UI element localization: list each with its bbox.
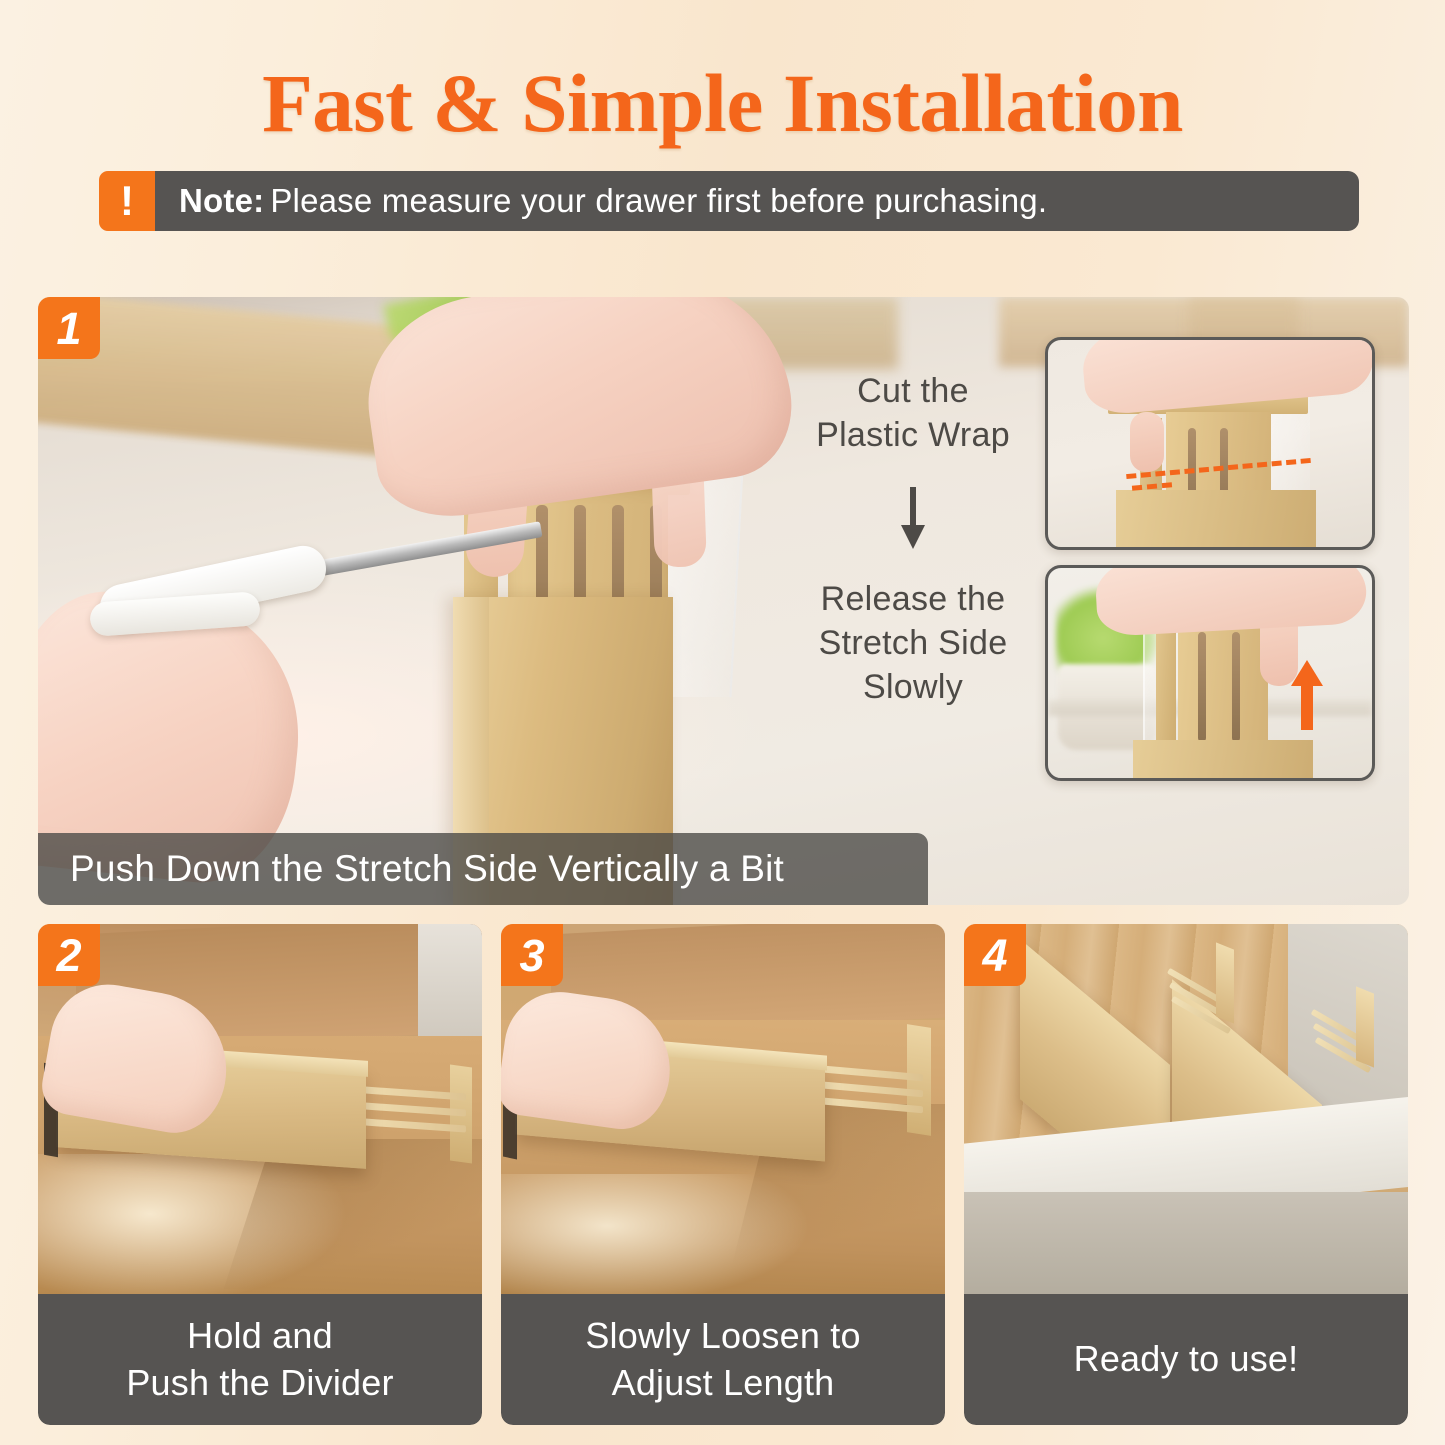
step-badge-2: 2 [38, 924, 100, 986]
annotation-line: Release the [783, 577, 1043, 621]
finger [1130, 412, 1164, 472]
step-3-caption: Slowly Loosen to Adjust Length [501, 1294, 945, 1425]
step-badge-4: 4 [964, 924, 1026, 986]
step-2-caption: Hold and Push the Divider [38, 1294, 482, 1425]
step-panel-1: Cut the Plastic Wrap Release the Stretch… [38, 297, 1409, 905]
caption-line: Hold and [44, 1312, 476, 1359]
step-4-photo: 4 [964, 924, 1408, 1294]
divider-post [1156, 624, 1176, 758]
hand-pressing-divider [1094, 565, 1368, 637]
caption-line: Ready to use! [970, 1335, 1402, 1382]
step-1-annotation: Cut the Plastic Wrap Release the Stretch… [783, 369, 1043, 709]
step-badge-3: 3 [501, 924, 563, 986]
step-3-photo: 3 [501, 924, 945, 1294]
divider-rails [819, 1061, 929, 1133]
floor-background [964, 1192, 1408, 1294]
down-arrow-icon [893, 487, 933, 551]
page-title: Fast & Simple Installation [0, 0, 1445, 145]
step-panel-4: 4 Ready to use! [964, 924, 1408, 1425]
step-1-caption: Push Down the Stretch Side Vertically a … [38, 833, 928, 905]
steps-bottom-row: 2 Hold and Push the Divider [38, 924, 1409, 1425]
note-message: Please measure your drawer first before … [270, 182, 1047, 220]
annotation-line: Plastic Wrap [783, 413, 1043, 457]
exclamation-icon: ! [99, 171, 155, 231]
step-number: 3 [519, 933, 544, 978]
exclamation-glyph: ! [120, 180, 134, 222]
step-4-caption: Ready to use! [964, 1294, 1408, 1425]
divider-body [1116, 490, 1316, 550]
step-number: 4 [982, 933, 1007, 978]
divider-slot-plate [1178, 618, 1268, 758]
divider-end-cap [1216, 942, 1234, 1023]
caption-line: Adjust Length [507, 1359, 939, 1406]
steps-grid: Cut the Plastic Wrap Release the Stretch… [38, 297, 1409, 1425]
step-panel-2: 2 Hold and Push the Divider [38, 924, 482, 1425]
step-panel-3: 3 Slowly Loosen to Adjust Length [501, 924, 945, 1425]
caption-line: Push the Divider [44, 1359, 476, 1406]
note-text-bar: Note: Please measure your drawer first b… [155, 171, 1359, 231]
step-badge-1: 1 [38, 297, 100, 359]
cut-plastic-wrap-inset [1045, 337, 1375, 550]
step-2-photo: 2 [38, 924, 482, 1294]
release-stretch-side-inset [1045, 565, 1375, 781]
step-number: 2 [56, 933, 81, 978]
divider-rails [360, 1080, 470, 1148]
divider-slot [1232, 632, 1240, 742]
divider-end-cap [1356, 986, 1374, 1067]
step-number: 1 [56, 306, 81, 351]
divider-body [1133, 740, 1313, 781]
drawer-edge [418, 924, 482, 1044]
note-banner: ! Note: Please measure your drawer first… [99, 171, 1359, 231]
annotation-line: Slowly [783, 665, 1043, 709]
divider-slot [1198, 632, 1206, 742]
annotation-line: Stretch Side [783, 621, 1043, 665]
caption-line: Slowly Loosen to [507, 1312, 939, 1359]
annotation-line: Cut the [783, 369, 1043, 413]
note-label: Note: [179, 182, 264, 220]
orange-up-arrow-icon [1291, 660, 1323, 730]
